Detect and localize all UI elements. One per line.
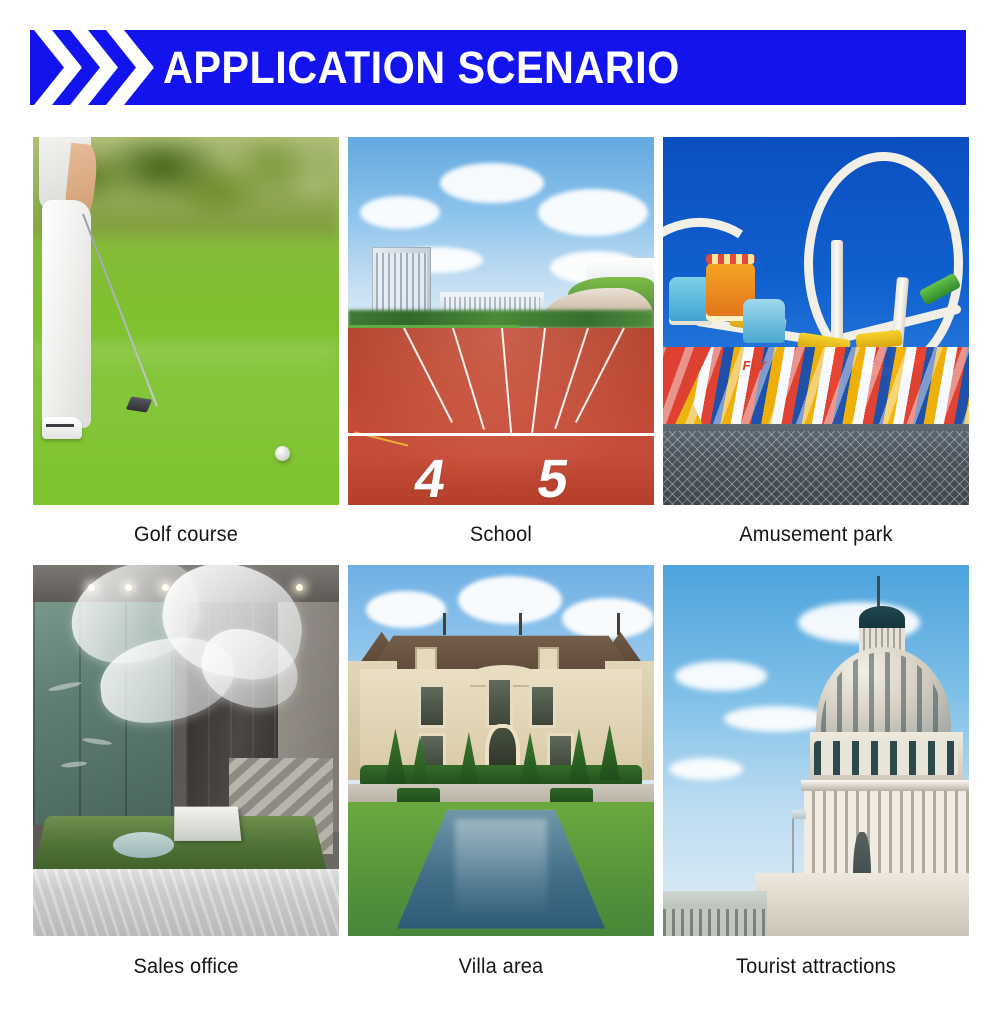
page-title: APPLICATION SCENARIO [163, 30, 680, 105]
lane-line [452, 328, 485, 430]
golfer-shoe [42, 417, 82, 439]
golf-course-photo [33, 137, 339, 505]
chainlink-fence [663, 431, 969, 505]
villa-window [532, 687, 553, 724]
villa-window [489, 680, 510, 725]
roof-finial [617, 613, 620, 635]
double-chevron-right-icon [30, 30, 160, 105]
scenario-grid: Golf course [33, 137, 970, 998]
scenario-row-2: Sales office [33, 565, 970, 998]
cloud [366, 591, 446, 628]
capitol-dome [816, 647, 951, 743]
ride-booth [743, 299, 786, 343]
ceiling-spotlight [296, 584, 303, 591]
lane-line [403, 328, 453, 423]
lane-number: 4 [410, 448, 450, 505]
flag [792, 810, 806, 819]
cloud [675, 661, 767, 691]
scenario-row-1: Golf course [33, 137, 970, 565]
golfer-pants [42, 200, 91, 428]
column-colonnade [804, 791, 969, 873]
dome-drum [810, 732, 963, 784]
scenario-card-golf-course[interactable]: Golf course [33, 137, 339, 565]
villa-window [421, 687, 442, 724]
start-line [348, 433, 654, 436]
amusement-park-photo: FLY [663, 137, 969, 505]
cornice [801, 780, 969, 791]
campus-tower-building [372, 247, 430, 317]
tourist-attractions-photo [663, 565, 969, 936]
scenario-card-sales-office[interactable]: Sales office [33, 565, 339, 998]
distant-cityscape [663, 891, 767, 936]
cloud [538, 189, 648, 237]
scenario-caption: Villa area [356, 936, 647, 998]
running-track: 4 5 [348, 328, 654, 505]
golf-ball [275, 446, 290, 461]
marble-plinth [33, 869, 339, 936]
scenario-caption: School [356, 505, 647, 565]
scenario-card-amusement-park[interactable]: FLY Amusement park [663, 137, 969, 565]
cloud [458, 576, 562, 624]
roof-finial [519, 613, 522, 635]
scenario-caption: Sales office [41, 936, 332, 998]
cloud [724, 706, 828, 732]
lane-line [554, 328, 589, 429]
ride-label: FLY [743, 358, 767, 373]
cloud [360, 196, 440, 229]
scenario-card-villa-area[interactable]: Villa area [348, 565, 654, 998]
scenario-card-school[interactable]: 4 5 School [348, 137, 654, 565]
lane-line [531, 328, 546, 433]
scenario-caption: Golf course [41, 505, 332, 565]
building-base [755, 873, 969, 936]
cloud [440, 163, 544, 203]
fairground-ride-canopy [663, 347, 969, 428]
model-lake [113, 832, 174, 858]
villa-window [550, 736, 571, 769]
sales-office-photo [33, 565, 339, 936]
roof-finial [443, 613, 446, 635]
cloud [562, 598, 654, 639]
scenario-card-tourist-attractions[interactable]: Tourist attractions [663, 565, 969, 998]
scenario-caption: Amusement park [671, 505, 962, 565]
school-photo: 4 5 [348, 137, 654, 505]
scenario-caption: Tourist attractions [671, 936, 962, 998]
cloud [669, 758, 742, 780]
villa-area-photo [348, 565, 654, 936]
golf-club-head [126, 397, 152, 413]
lane-number: 5 [533, 448, 573, 505]
application-scenario-banner: APPLICATION SCENARIO [30, 30, 966, 105]
lane-line [501, 328, 512, 434]
